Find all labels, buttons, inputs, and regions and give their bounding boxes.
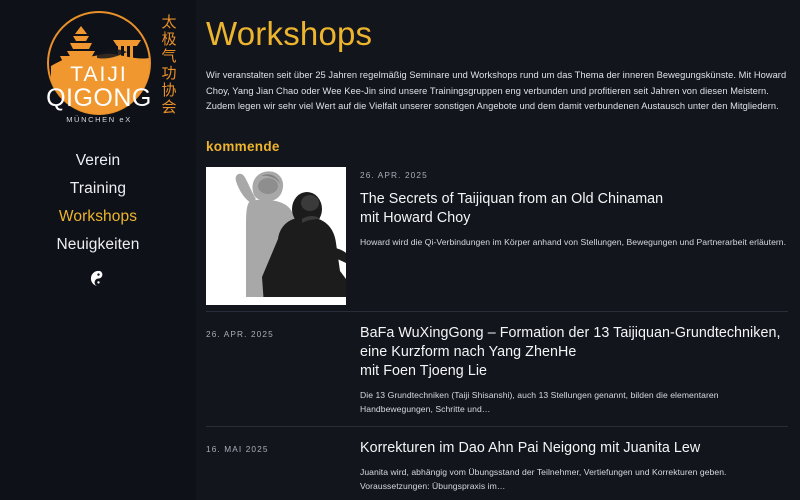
logo-name-line2: QIGONG xyxy=(45,86,153,111)
workshop-list: 26. APR. 2025 The Secrets of Taijiquan f… xyxy=(206,167,788,500)
logo-subtitle: MÜNCHEN eX xyxy=(45,116,153,124)
event-title-line: Korrekturen im Dao Ahn Pai Neigong mit J… xyxy=(360,439,788,458)
main-content: Workshops Wir veranstalten seit über 25 … xyxy=(196,0,800,500)
event-description: Howard wird die Qi-Verbindungen im Körpe… xyxy=(360,235,788,249)
event-title-line: mit Foen Tjoeng Lie xyxy=(360,362,788,381)
primary-navigation: Verein Training Workshops Neuigkeiten xyxy=(0,146,196,258)
yin-yang-icon[interactable] xyxy=(90,270,107,287)
cjk-char: 极 xyxy=(158,31,180,48)
sidebar-item-workshops[interactable]: Workshops xyxy=(0,202,196,230)
event-title-line: The Secrets of Taijiquan from an Old Chi… xyxy=(360,190,788,209)
workshops-page: TAIJI QIGONG MÜNCHEN eX 太 极 气 功 协 会 Vere… xyxy=(0,0,800,500)
event-title-line: eine Kurzform nach Yang ZhenHe xyxy=(360,343,788,362)
event-details: Korrekturen im Dao Ahn Pai Neigong mit J… xyxy=(360,437,788,493)
section-heading-upcoming: kommende xyxy=(206,139,788,155)
event-title[interactable]: BaFa WuXingGong – Formation der 13 Taiji… xyxy=(360,324,788,381)
event-title[interactable]: The Secrets of Taijiquan from an Old Chi… xyxy=(360,190,788,228)
list-item[interactable]: 16. MAI 2025 Korrekturen im Dao Ahn Pai … xyxy=(206,426,788,500)
sidebar: TAIJI QIGONG MÜNCHEN eX 太 极 气 功 协 会 Vere… xyxy=(0,0,196,500)
intro-paragraph: Wir veranstalten seit über 25 Jahren reg… xyxy=(206,68,788,115)
cjk-char: 功 xyxy=(158,65,180,82)
site-logo[interactable]: TAIJI QIGONG MÜNCHEN eX 太 极 气 功 协 会 xyxy=(8,8,188,134)
event-date-column: 16. MAI 2025 xyxy=(206,437,346,457)
event-date: 26. APR. 2025 xyxy=(206,329,274,339)
event-title-line: mit Howard Choy xyxy=(360,209,788,228)
logo-mark: TAIJI QIGONG MÜNCHEN eX xyxy=(45,8,153,126)
event-date-column: 26. APR. 2025 xyxy=(206,322,346,342)
event-description: Die 13 Grundtechniken (Taiji Shisanshi),… xyxy=(360,388,788,416)
cjk-char: 协 xyxy=(158,82,180,99)
sidebar-item-training[interactable]: Training xyxy=(0,174,196,202)
event-thumbnail[interactable] xyxy=(206,167,346,305)
event-details: BaFa WuXingGong – Formation der 13 Taiji… xyxy=(360,322,788,416)
logo-chinese-characters: 太 极 气 功 协 会 xyxy=(158,14,180,116)
event-details: 26. APR. 2025 The Secrets of Taijiquan f… xyxy=(360,167,788,249)
list-item[interactable]: 26. APR. 2025 The Secrets of Taijiquan f… xyxy=(206,167,788,311)
workshop-photo xyxy=(206,167,346,305)
event-title-line: BaFa WuXingGong – Formation der 13 Taiji… xyxy=(360,324,788,343)
sidebar-item-neuigkeiten[interactable]: Neuigkeiten xyxy=(0,230,196,258)
cjk-char: 会 xyxy=(158,99,180,116)
cjk-char: 气 xyxy=(158,48,180,65)
logo-wordmark: TAIJI QIGONG MÜNCHEN eX xyxy=(45,64,153,124)
page-title: Workshops xyxy=(206,14,788,54)
event-date: 26. APR. 2025 xyxy=(360,169,788,181)
event-title[interactable]: Korrekturen im Dao Ahn Pai Neigong mit J… xyxy=(360,439,788,458)
event-date: 16. MAI 2025 xyxy=(206,444,269,454)
logo-name-line1: TAIJI xyxy=(45,64,153,85)
sidebar-item-verein[interactable]: Verein xyxy=(0,146,196,174)
event-description: Juanita wird, abhängig vom Übungsstand d… xyxy=(360,465,788,493)
list-item[interactable]: 26. APR. 2025 BaFa WuXingGong – Formatio… xyxy=(206,311,788,426)
cjk-char: 太 xyxy=(158,14,180,31)
